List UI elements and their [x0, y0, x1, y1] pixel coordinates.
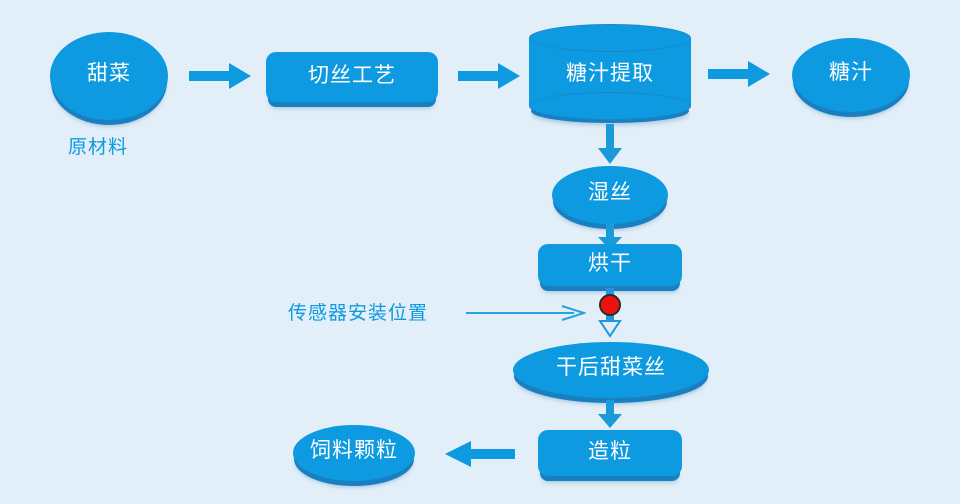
node-granulation[interactable]: 造粒 — [538, 430, 682, 476]
node-wet-pulp[interactable]: 湿丝 — [552, 166, 668, 224]
node-drying[interactable]: 烘干 — [538, 244, 682, 286]
arrow-beet-to-slicing — [189, 62, 251, 90]
arrow-sensor-callout — [466, 303, 586, 323]
annotation-raw-material: 原材料 — [68, 132, 128, 159]
node-slicing-label: 切丝工艺 — [308, 65, 396, 86]
node-dried-beet-pulp-label: 干后甜菜丝 — [556, 357, 666, 378]
sensor-marker[interactable] — [596, 288, 624, 338]
node-wet-pulp-label: 湿丝 — [588, 182, 632, 203]
node-sugar-juice-label: 糖汁 — [829, 62, 873, 83]
node-granulation-label: 造粒 — [588, 441, 632, 462]
arrow-extraction-to-wet-pulp — [598, 124, 622, 164]
node-beet-label: 甜菜 — [87, 63, 131, 84]
flowchart-canvas: 甜菜 原材料 切丝工艺 糖汁提取 糖汁 — [0, 0, 960, 504]
node-slicing[interactable]: 切丝工艺 — [266, 52, 438, 102]
node-sugar-juice[interactable]: 糖汁 — [792, 38, 910, 112]
node-beet[interactable]: 甜菜 — [50, 32, 168, 120]
arrow-extraction-to-sugar-juice — [708, 60, 770, 88]
sensor-red-dot[interactable] — [599, 294, 621, 316]
arrow-slicing-to-extraction — [458, 62, 520, 90]
arrow-granulation-to-feed-pellets — [445, 440, 515, 468]
node-feed-pellets-label: 饲料颗粒 — [310, 440, 398, 461]
node-juice-extraction-label: 糖汁提取 — [529, 24, 691, 120]
node-dried-beet-pulp[interactable]: 干后甜菜丝 — [513, 342, 709, 398]
arrow-dried-pulp-to-granulation — [598, 400, 622, 428]
node-feed-pellets[interactable]: 饲料颗粒 — [293, 425, 415, 481]
node-juice-extraction[interactable]: 糖汁提取 — [529, 24, 691, 120]
node-drying-label: 烘干 — [588, 253, 632, 274]
annotation-sensor-position: 传感器安装位置 — [288, 298, 428, 325]
